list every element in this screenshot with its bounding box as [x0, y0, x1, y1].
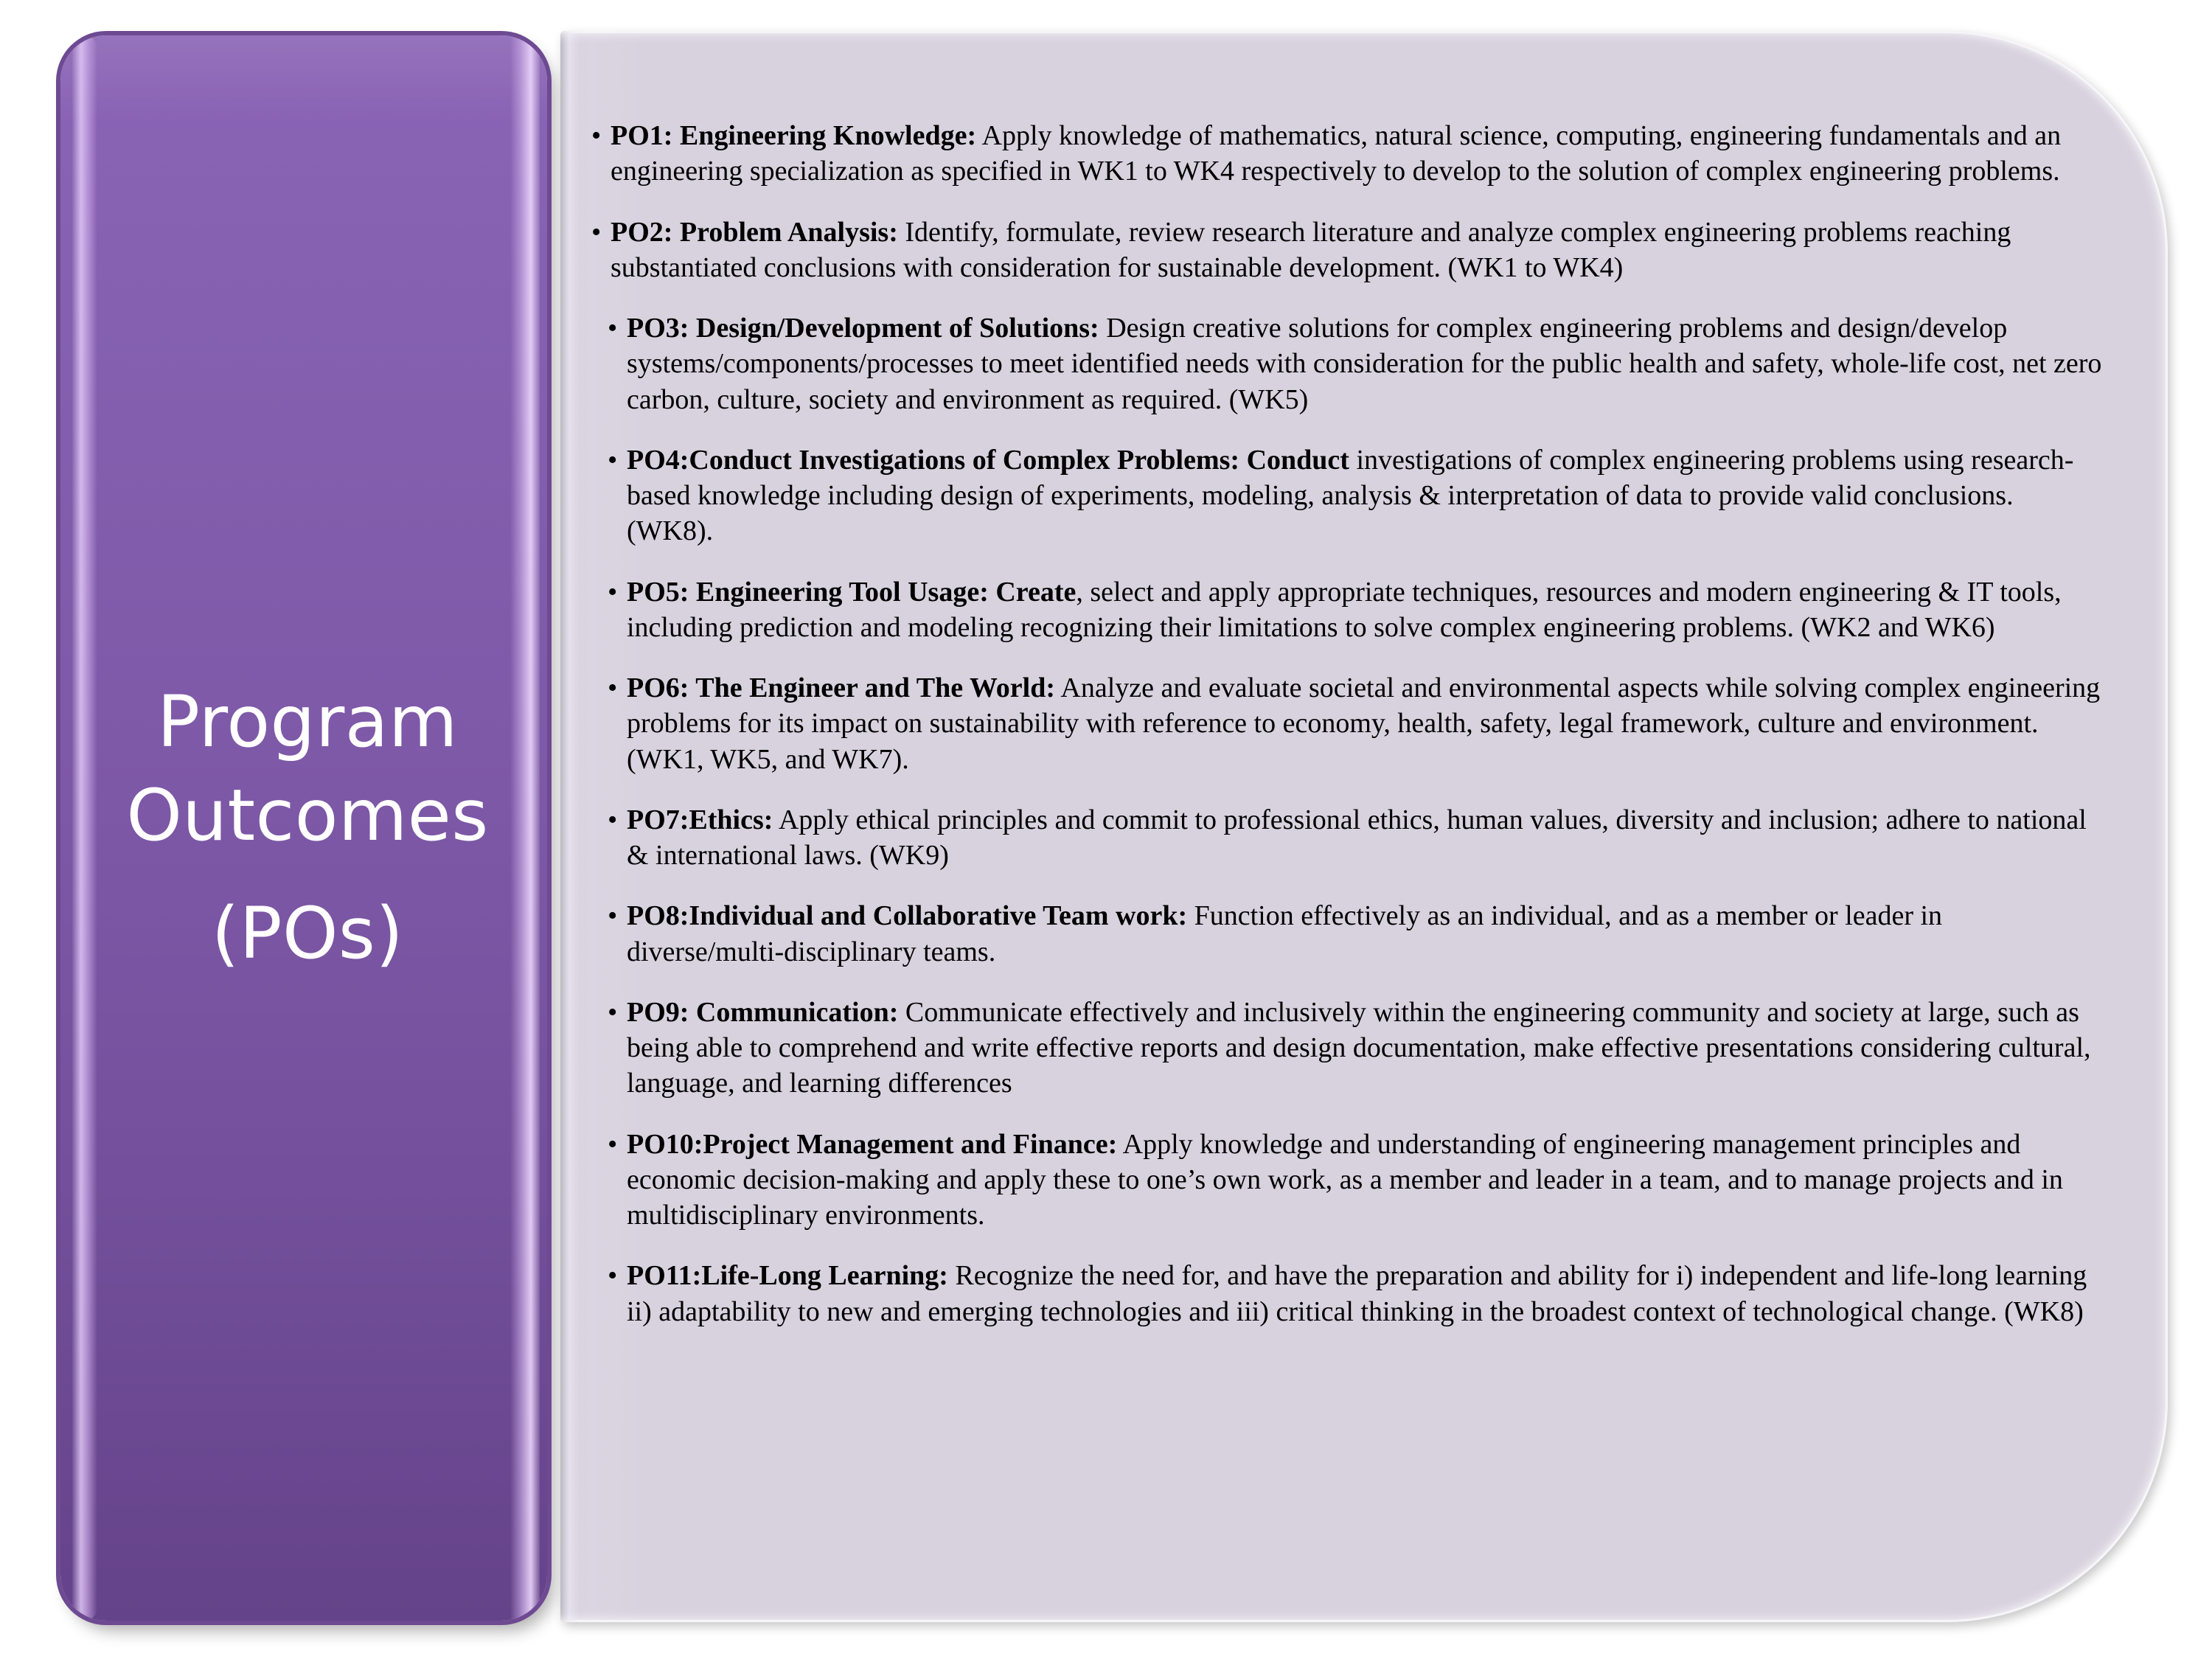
bullet-icon: •: [608, 670, 627, 706]
program-outcome-item: •PO4:Conduct Investigations of Complex P…: [591, 442, 2104, 549]
program-outcome-item: •PO6: The Engineer and The World: Analyz…: [591, 670, 2104, 777]
bullet-icon: •: [608, 802, 627, 838]
program-outcome-term: PO10:Project Management and Finance:: [627, 1129, 1117, 1160]
program-outcome-term: PO1: Engineering Knowledge:: [611, 120, 976, 151]
panel-left-bevel-highlight: [72, 35, 97, 1621]
program-outcome-item: •PO8:Individual and Collaborative Team w…: [591, 898, 2104, 970]
panel-title-line-2: Outcomes: [126, 769, 488, 863]
program-outcome-item: •PO2: Problem Analysis: Identify, formul…: [591, 215, 2104, 286]
program-outcomes-title-panel: Program Outcomes (POs): [60, 35, 547, 1621]
bullet-icon: •: [608, 442, 627, 478]
program-outcome-text: PO9: Communication: Communicate effectiv…: [627, 995, 2104, 1102]
program-outcome-text: PO7:Ethics: Apply ethical principles and…: [627, 802, 2104, 874]
program-outcome-item: •PO11:Life-Long Learning: Recognize the …: [591, 1258, 2104, 1329]
program-outcomes-list: •PO1: Engineering Knowledge: Apply knowl…: [591, 118, 2104, 1354]
program-outcome-text: PO6: The Engineer and The World: Analyze…: [627, 670, 2104, 777]
program-outcome-term: PO4:Conduct Investigations of Complex Pr…: [627, 445, 1349, 476]
program-outcome-item: •PO1: Engineering Knowledge: Apply knowl…: [591, 118, 2104, 189]
program-outcome-item: •PO3: Design/Development of Solutions: D…: [591, 310, 2104, 417]
program-outcome-text: PO11:Life-Long Learning: Recognize the n…: [627, 1258, 2104, 1329]
program-outcome-text: PO2: Problem Analysis: Identify, formula…: [611, 215, 2104, 286]
bullet-icon: •: [608, 574, 627, 610]
program-outcome-term: PO3: Design/Development of Solutions:: [627, 313, 1099, 344]
program-outcome-text: PO5: Engineering Tool Usage: Create, sel…: [627, 574, 2104, 646]
program-outcome-description: Apply ethical principles and commit to p…: [627, 804, 2087, 871]
program-outcome-text: PO3: Design/Development of Solutions: De…: [627, 310, 2104, 417]
content-panel-left-edge: [560, 31, 580, 1622]
bullet-icon: •: [608, 1258, 627, 1293]
program-outcome-term: PO2: Problem Analysis:: [611, 217, 898, 248]
bullet-icon: •: [608, 310, 627, 346]
bullet-icon: •: [608, 898, 627, 933]
program-outcomes-content-panel: •PO1: Engineering Knowledge: Apply knowl…: [560, 31, 2168, 1622]
program-outcome-item: •PO10:Project Management and Finance: Ap…: [591, 1127, 2104, 1234]
panel-right-bevel-highlight: [510, 35, 540, 1621]
program-outcome-term: PO8:Individual and Collaborative Team wo…: [627, 900, 1187, 931]
program-outcome-text: PO4:Conduct Investigations of Complex Pr…: [627, 442, 2104, 549]
panel-title: Program Outcomes (POs): [103, 35, 512, 1621]
panel-title-line-3: (POs): [212, 887, 403, 981]
bullet-icon: •: [608, 1127, 627, 1162]
program-outcome-text: PO8:Individual and Collaborative Team wo…: [627, 898, 2104, 970]
program-outcome-term: PO9: Communication:: [627, 997, 898, 1028]
program-outcome-term: PO5: Engineering Tool Usage: Create: [627, 577, 1076, 608]
bullet-icon: •: [591, 215, 611, 250]
program-outcome-term: PO11:Life-Long Learning:: [627, 1260, 948, 1291]
program-outcome-text: PO1: Engineering Knowledge: Apply knowle…: [611, 118, 2104, 189]
program-outcome-text: PO10:Project Management and Finance: App…: [627, 1127, 2104, 1234]
panel-title-line-1: Program: [157, 675, 458, 769]
program-outcome-term: PO6: The Engineer and The World:: [627, 672, 1055, 703]
program-outcome-item: •PO5: Engineering Tool Usage: Create, se…: [591, 574, 2104, 646]
bullet-icon: •: [608, 995, 627, 1030]
program-outcome-item: •PO7:Ethics: Apply ethical principles an…: [591, 802, 2104, 874]
program-outcome-item: •PO9: Communication: Communicate effecti…: [591, 995, 2104, 1102]
bullet-icon: •: [591, 118, 611, 153]
program-outcome-term: PO7:Ethics:: [627, 804, 773, 835]
slide-canvas: Program Outcomes (POs) •PO1: Engineering…: [0, 0, 2212, 1659]
